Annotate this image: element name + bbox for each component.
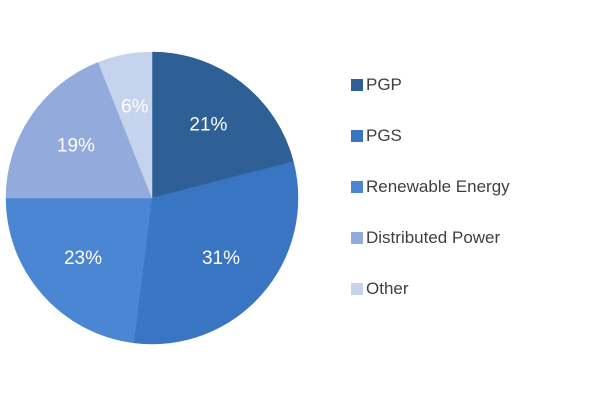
legend-item-label: PGP xyxy=(366,74,402,95)
legend-swatch-icon xyxy=(351,79,363,91)
legend-swatch-icon xyxy=(351,283,363,295)
pie-plot-area: 21%31%23%19%6% xyxy=(0,0,340,400)
pie-slice-data-label: 19% xyxy=(57,135,95,156)
legend-item[interactable]: Renewable Energy xyxy=(351,176,596,197)
legend-item-label: PGS xyxy=(366,125,402,146)
legend-item[interactable]: Other xyxy=(351,278,596,299)
legend-item[interactable]: PGP xyxy=(351,74,596,95)
pie-slice-data-label: 6% xyxy=(121,97,149,118)
pie-slice-data-label: 21% xyxy=(189,114,227,135)
pie-chart-figure: 21%31%23%19%6% PGPPGSRenewable EnergyDis… xyxy=(0,0,600,400)
legend-item-label: Other xyxy=(366,278,409,299)
pie-slice-data-label: 23% xyxy=(64,248,102,269)
legend-item[interactable]: PGS xyxy=(351,125,596,146)
legend-swatch-icon xyxy=(351,232,363,244)
legend-item-label: Distributed Power xyxy=(366,227,500,248)
legend-item-label: Renewable Energy xyxy=(366,176,510,197)
legend-swatch-icon xyxy=(351,181,363,193)
legend-item[interactable]: Distributed Power xyxy=(351,227,596,248)
legend-swatch-icon xyxy=(351,130,363,142)
pie-slice-data-label: 31% xyxy=(202,248,240,269)
chart-legend: PGPPGSRenewable EnergyDistributed PowerO… xyxy=(351,74,596,324)
pie-slice-group xyxy=(6,52,298,344)
pie-svg: 21%31%23%19%6% xyxy=(0,0,340,400)
pie-slice[interactable] xyxy=(6,198,152,343)
